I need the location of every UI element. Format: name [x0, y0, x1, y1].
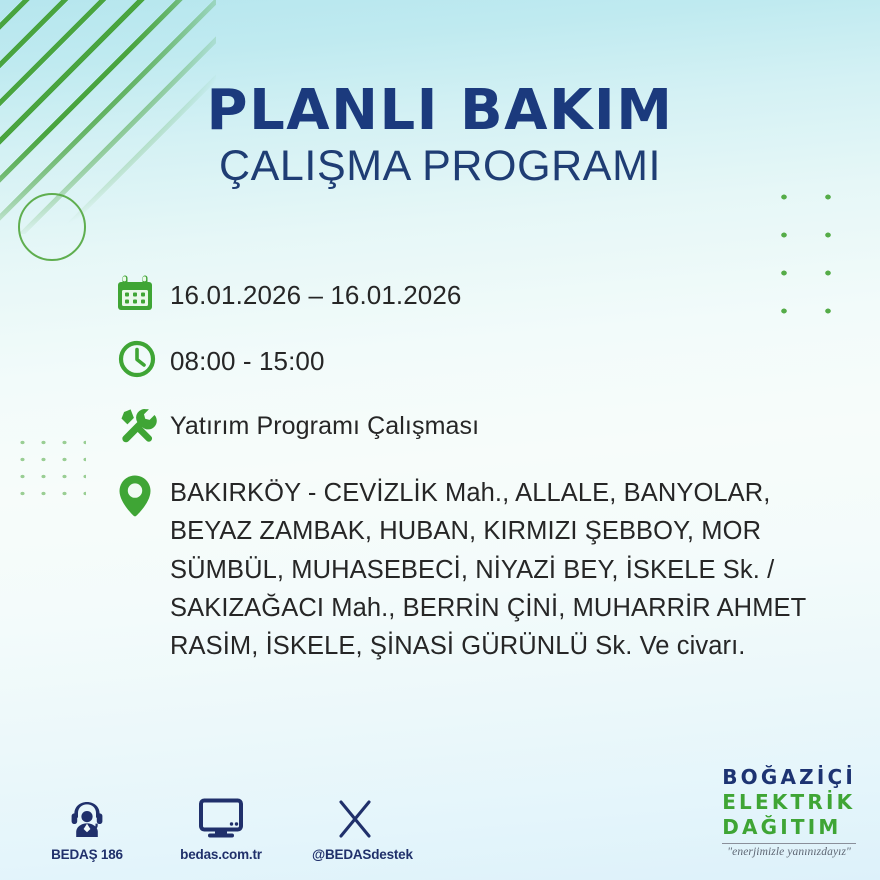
contact-call-center[interactable]: BEDAŞ 186	[44, 792, 130, 862]
website-label: bedas.com.tr	[178, 847, 264, 862]
monitor-website-icon	[178, 792, 264, 840]
detail-row-date: 16.01.2026 – 16.01.2026	[118, 272, 848, 324]
contact-channels: BEDAŞ 186 bedas.com.tr	[44, 792, 398, 862]
logo-line-elektrik: ELEKTRİK	[722, 790, 856, 815]
poster-footer: BEDAŞ 186 bedas.com.tr	[0, 690, 880, 880]
page-title: PLANLI BAKIM	[0, 82, 880, 140]
dot-grid-decoration-left	[10, 432, 86, 504]
logo-line-dagitim: DAĞITIM	[722, 815, 856, 840]
circle-outline-decoration	[18, 193, 86, 261]
poster-heading: PLANLI BAKIM ÇALIŞMA PROGRAMI	[0, 82, 880, 192]
map-pin-icon	[118, 470, 170, 522]
calendar-icon	[118, 272, 170, 324]
planned-maintenance-poster: PLANLI BAKIM ÇALIŞMA PROGRAMI	[0, 0, 880, 880]
logo-divider	[722, 843, 856, 845]
logo-line-bogazici: BOĞAZİÇİ	[722, 765, 856, 790]
x-account-label: @BEDASdestek	[312, 847, 398, 862]
headset-support-icon	[44, 792, 130, 840]
page-subtitle: ÇALIŞMA PROGRAMI	[0, 142, 880, 192]
x-twitter-icon	[312, 792, 398, 840]
work-type-label: Yatırım Programı Çalışması	[170, 404, 479, 445]
detail-row-location: BAKIRKÖY - CEVİZLİK Mah., ALLALE, BANYOL…	[118, 470, 848, 665]
affected-locations: BAKIRKÖY - CEVİZLİK Mah., ALLALE, BANYOL…	[170, 470, 848, 665]
outage-time-range: 08:00 - 15:00	[170, 338, 325, 380]
detail-row-work-type: Yatırım Programı Çalışması	[118, 404, 848, 456]
contact-x-account[interactable]: @BEDASdestek	[312, 792, 398, 862]
contact-website[interactable]: bedas.com.tr	[178, 792, 264, 862]
tools-icon	[118, 404, 170, 456]
outage-date-range: 16.01.2026 – 16.01.2026	[170, 272, 461, 314]
detail-row-time: 08:00 - 15:00	[118, 338, 848, 390]
bogazici-elektrik-dagitim-logo: BOĞAZİÇİ ELEKTRİK DAĞITIM "enerjimizle y…	[722, 765, 856, 858]
outage-details: 16.01.2026 – 16.01.2026 08:00 - 15:00	[118, 272, 848, 665]
logo-tagline: "enerjimizle yanınızdayız"	[722, 846, 856, 858]
clock-icon	[118, 338, 170, 390]
call-center-label: BEDAŞ 186	[44, 847, 130, 862]
